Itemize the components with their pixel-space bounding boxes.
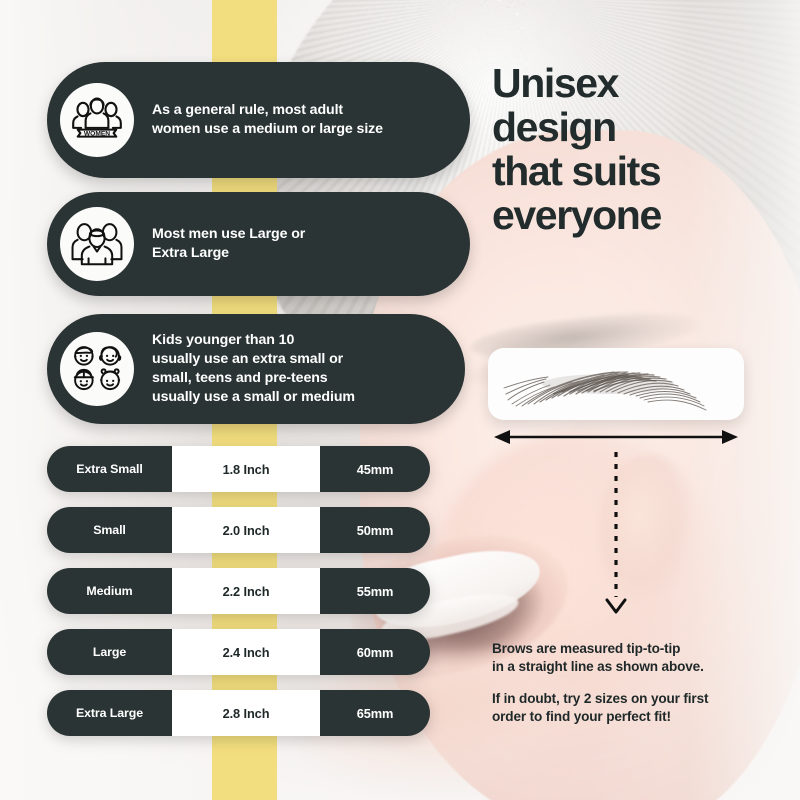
table-row: Medium 2.2 Inch 55mm <box>47 568 430 614</box>
women-group-icon: WOMEN <box>60 83 134 157</box>
info-card-text: As a general rule, most adult women use … <box>152 101 383 139</box>
table-row: Large 2.4 Inch 60mm <box>47 629 430 675</box>
size-inch-cell: 2.2 Inch <box>172 568 320 614</box>
info-card-kids: Kids younger than 10 usually use an extr… <box>47 314 465 424</box>
size-inch-cell: 2.0 Inch <box>172 507 320 553</box>
size-mm-cell: 55mm <box>320 568 430 614</box>
double-headed-measure-arrow <box>494 429 738 445</box>
kids-group-icon <box>60 332 134 406</box>
size-name-cell: Small <box>47 507 172 553</box>
info-card-women: WOMEN As a general rule, most adult wome… <box>47 62 470 178</box>
size-inch-cell: 2.4 Inch <box>172 629 320 675</box>
size-mm-cell: 45mm <box>320 446 430 492</box>
infographic-canvas: Unisex design that suits everyone WOMEN … <box>0 0 800 800</box>
size-inch-cell: 2.8 Inch <box>172 690 320 736</box>
size-name-cell: Large <box>47 629 172 675</box>
dotted-down-arrow <box>596 452 636 617</box>
info-card-text: Most men use Large or Extra Large <box>152 225 305 263</box>
table-row: Extra Large 2.8 Inch 65mm <box>47 690 430 736</box>
size-inch-cell: 1.8 Inch <box>172 446 320 492</box>
size-mm-cell: 60mm <box>320 629 430 675</box>
size-mm-cell: 50mm <box>320 507 430 553</box>
note-sizing-tip: If in doubt, try 2 sizes on your first o… <box>492 690 792 725</box>
eyebrow-illustration <box>488 348 744 420</box>
svg-text:WOMEN: WOMEN <box>84 130 110 137</box>
size-name-cell: Extra Small <box>47 446 172 492</box>
table-row: Extra Small 1.8 Inch 45mm <box>47 446 430 492</box>
size-name-cell: Medium <box>47 568 172 614</box>
page-title: Unisex design that suits everyone <box>492 62 792 237</box>
info-card-men: Most men use Large or Extra Large <box>47 192 470 296</box>
info-card-text: Kids younger than 10 usually use an extr… <box>152 331 355 407</box>
table-row: Small 2.0 Inch 50mm <box>47 507 430 553</box>
eyebrow-sample-card <box>488 348 744 420</box>
size-name-cell: Extra Large <box>47 690 172 736</box>
men-group-icon <box>60 207 134 281</box>
size-mm-cell: 65mm <box>320 690 430 736</box>
note-measurement: Brows are measured tip-to-tip in a strai… <box>492 640 792 675</box>
